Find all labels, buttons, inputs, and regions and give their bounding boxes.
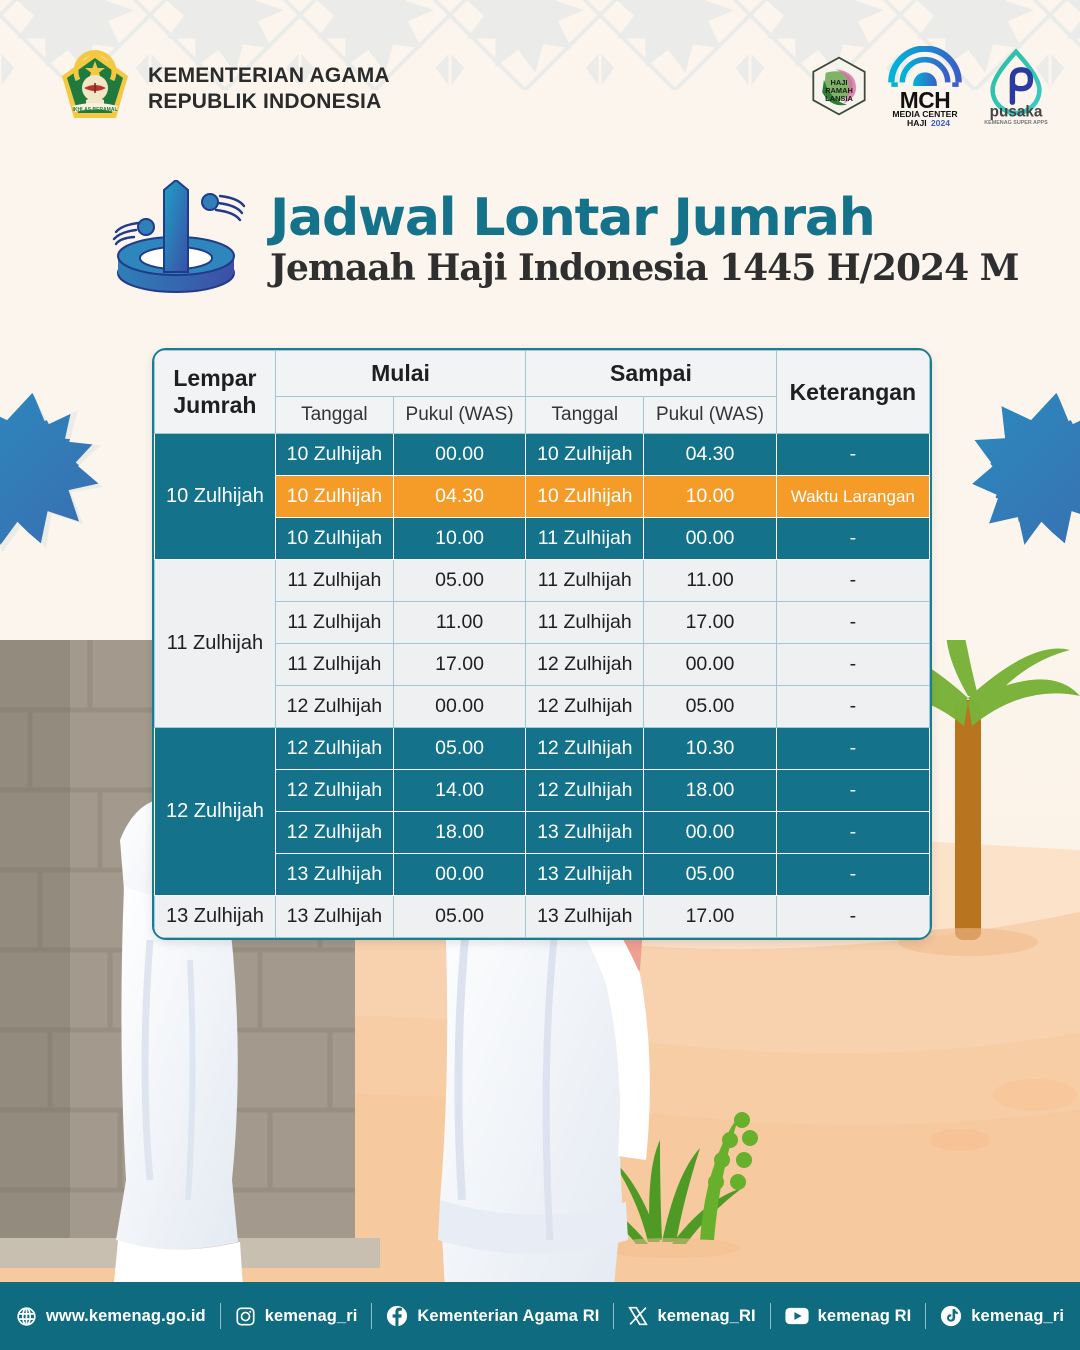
- footer-label-youtube: kemenag RI: [818, 1307, 912, 1326]
- cell-sampai-pukul: 11.00: [644, 560, 776, 602]
- table-body: 10 Zulhijah10 Zulhijah00.0010 Zulhijah04…: [155, 434, 930, 938]
- cell-keterangan: -: [776, 644, 929, 686]
- header-lempar-line1: Lempar: [173, 365, 256, 391]
- cell-keterangan: -: [776, 518, 929, 560]
- cell-sampai-pukul: 10.30: [644, 728, 776, 770]
- table-row: 11 Zulhijah11 Zulhijah05.0011 Zulhijah11…: [155, 560, 930, 602]
- footer-item-tiktok[interactable]: kemenag_ri: [926, 1305, 1078, 1327]
- footer-label-website: www.kemenag.go.id: [46, 1307, 206, 1326]
- facebook-icon: [386, 1305, 408, 1327]
- cell-sampai-tanggal: 11 Zulhijah: [526, 560, 644, 602]
- footer-item-youtube[interactable]: kemenag RI: [771, 1307, 926, 1326]
- cell-keterangan: -: [776, 560, 929, 602]
- cell-keterangan: -: [776, 770, 929, 812]
- rosette-left-decoration: [0, 378, 128, 573]
- table-row: 12 Zulhijah12 Zulhijah05.0012 Zulhijah10…: [155, 728, 930, 770]
- kemenag-logo: IKHLAS BERAMAL: [60, 50, 130, 128]
- cell-mulai-tanggal: 12 Zulhijah: [275, 728, 393, 770]
- header-mulai-pukul: Pukul (WAS): [393, 397, 525, 434]
- cell-mulai-pukul: 11.00: [393, 602, 525, 644]
- cell-mulai-pukul: 00.00: [393, 434, 525, 476]
- footer-item-x[interactable]: kemenag_RI: [614, 1306, 769, 1326]
- haji-ramah-lansia-logo: HAJI RAMAH LANSIA: [808, 55, 870, 117]
- header-sampai-pukul: Pukul (WAS): [644, 397, 776, 434]
- youtube-icon: [785, 1307, 809, 1325]
- jumrah-pillar-icon: [104, 180, 254, 298]
- footer-label-facebook: Kementerian Agama RI: [417, 1307, 599, 1326]
- cell-mulai-tanggal: 11 Zulhijah: [275, 560, 393, 602]
- ministry-name: KEMENTERIAN AGAMA REPUBLIK INDONESIA: [148, 63, 390, 116]
- cell-keterangan: -: [776, 728, 929, 770]
- header-mulai: Mulai: [275, 351, 525, 397]
- group-label-cell: 12 Zulhijah: [155, 728, 276, 896]
- page-title: Jadwal Lontar Jumrah: [270, 192, 1019, 245]
- cell-sampai-pukul: 05.00: [644, 686, 776, 728]
- page-subtitle: Jemaah Haji Indonesia 1445 H/2024 M: [270, 249, 1019, 289]
- cell-keterangan: Waktu Larangan: [776, 476, 929, 518]
- cell-sampai-tanggal: 10 Zulhijah: [526, 476, 644, 518]
- cell-sampai-pukul: 18.00: [644, 770, 776, 812]
- group-label-cell: 13 Zulhijah: [155, 896, 276, 938]
- svg-text:HAJI: HAJI: [907, 118, 927, 126]
- svg-text:2024: 2024: [931, 118, 950, 126]
- cell-sampai-tanggal: 12 Zulhijah: [526, 686, 644, 728]
- cell-mulai-tanggal: 10 Zulhijah: [275, 476, 393, 518]
- cell-mulai-pukul: 00.00: [393, 686, 525, 728]
- cell-keterangan: -: [776, 686, 929, 728]
- cell-mulai-tanggal: 13 Zulhijah: [275, 854, 393, 896]
- cell-mulai-pukul: 05.00: [393, 728, 525, 770]
- header-lempar-line2: Jumrah: [173, 392, 256, 418]
- pusaka-logo: pusaka KEMENAG SUPER APPS: [980, 46, 1052, 126]
- ministry-line-2: REPUBLIK INDONESIA: [148, 89, 390, 115]
- cell-keterangan: -: [776, 434, 929, 476]
- cell-mulai-pukul: 05.00: [393, 896, 525, 938]
- cell-sampai-pukul: 00.00: [644, 812, 776, 854]
- table-row: 13 Zulhijah13 Zulhijah05.0013 Zulhijah17…: [155, 896, 930, 938]
- cell-sampai-tanggal: 12 Zulhijah: [526, 770, 644, 812]
- cell-mulai-pukul: 04.30: [393, 476, 525, 518]
- table-header: Lempar Jumrah Mulai Sampai Keterangan Ta…: [155, 351, 930, 434]
- cell-keterangan: -: [776, 602, 929, 644]
- ministry-line-1: KEMENTERIAN AGAMA: [148, 63, 390, 89]
- cell-sampai-pukul: 17.00: [644, 602, 776, 644]
- cell-mulai-pukul: 17.00: [393, 644, 525, 686]
- cell-sampai-tanggal: 13 Zulhijah: [526, 812, 644, 854]
- page-header: IKHLAS BERAMAL KEMENTERIAN AGAMA REPUBLI…: [0, 0, 1080, 150]
- table-row: 10 Zulhijah10 Zulhijah00.0010 Zulhijah04…: [155, 434, 930, 476]
- cell-mulai-tanggal: 12 Zulhijah: [275, 770, 393, 812]
- kemenag-lockup: IKHLAS BERAMAL KEMENTERIAN AGAMA REPUBLI…: [60, 50, 390, 128]
- header-sampai: Sampai: [526, 351, 776, 397]
- cell-mulai-tanggal: 11 Zulhijah: [275, 602, 393, 644]
- group-label-cell: 10 Zulhijah: [155, 434, 276, 560]
- tiktok-icon: [940, 1305, 962, 1327]
- cell-sampai-pukul: 04.30: [644, 434, 776, 476]
- jumrah-schedule-table: Lempar Jumrah Mulai Sampai Keterangan Ta…: [152, 348, 932, 940]
- footer-label-tiktok: kemenag_ri: [971, 1307, 1064, 1326]
- svg-text:IKHLAS BERAMAL: IKHLAS BERAMAL: [73, 107, 118, 113]
- cell-sampai-tanggal: 11 Zulhijah: [526, 518, 644, 560]
- cell-sampai-pukul: 17.00: [644, 896, 776, 938]
- cell-mulai-tanggal: 11 Zulhijah: [275, 644, 393, 686]
- cell-mulai-tanggal: 12 Zulhijah: [275, 686, 393, 728]
- globe-icon: [16, 1306, 37, 1327]
- title-block: Jadwal Lontar Jumrah Jemaah Haji Indones…: [104, 180, 1019, 298]
- svg-text:pusaka: pusaka: [990, 104, 1043, 121]
- header-keterangan: Keterangan: [776, 351, 929, 434]
- footer-item-instagram[interactable]: kemenag_ri: [221, 1306, 372, 1327]
- cell-sampai-tanggal: 13 Zulhijah: [526, 854, 644, 896]
- footer-item-website[interactable]: www.kemenag.go.id: [2, 1306, 220, 1327]
- svg-text:KEMENAG SUPER APPS: KEMENAG SUPER APPS: [984, 120, 1048, 126]
- cell-mulai-tanggal: 10 Zulhijah: [275, 434, 393, 476]
- svg-text:LANSIA: LANSIA: [825, 94, 853, 103]
- cell-sampai-tanggal: 12 Zulhijah: [526, 728, 644, 770]
- cell-mulai-pukul: 00.00: [393, 854, 525, 896]
- cell-mulai-tanggal: 10 Zulhijah: [275, 518, 393, 560]
- group-label-cell: 11 Zulhijah: [155, 560, 276, 728]
- cell-mulai-tanggal: 12 Zulhijah: [275, 812, 393, 854]
- cell-mulai-pukul: 18.00: [393, 812, 525, 854]
- cell-sampai-tanggal: 10 Zulhijah: [526, 434, 644, 476]
- cell-mulai-tanggal: 13 Zulhijah: [275, 896, 393, 938]
- partner-logos: HAJI RAMAH LANSIA MCH MEDIA CENTER HAJI …: [808, 46, 1052, 126]
- cell-sampai-tanggal: 12 Zulhijah: [526, 644, 644, 686]
- cell-mulai-pukul: 05.00: [393, 560, 525, 602]
- cell-sampai-pukul: 00.00: [644, 644, 776, 686]
- cell-mulai-pukul: 14.00: [393, 770, 525, 812]
- footer-item-facebook[interactable]: Kementerian Agama RI: [372, 1305, 613, 1327]
- cell-sampai-tanggal: 11 Zulhijah: [526, 602, 644, 644]
- rosette-right-decoration: [962, 378, 1080, 573]
- header-mulai-tanggal: Tanggal: [275, 397, 393, 434]
- cell-keterangan: -: [776, 854, 929, 896]
- cell-sampai-tanggal: 13 Zulhijah: [526, 896, 644, 938]
- cell-sampai-pukul: 10.00: [644, 476, 776, 518]
- cell-mulai-pukul: 10.00: [393, 518, 525, 560]
- header-sampai-tanggal: Tanggal: [526, 397, 644, 434]
- x-twitter-icon: [628, 1306, 648, 1326]
- social-footer: www.kemenag.go.id kemenag_ri Kementerian…: [0, 1282, 1080, 1350]
- header-lempar-jumrah: Lempar Jumrah: [155, 351, 276, 434]
- footer-label-x: kemenag_RI: [657, 1307, 755, 1326]
- footer-label-instagram: kemenag_ri: [265, 1307, 358, 1326]
- cell-keterangan: -: [776, 812, 929, 854]
- instagram-icon: [235, 1306, 256, 1327]
- mch-logo: MCH MEDIA CENTER HAJI 2024: [884, 46, 966, 126]
- cell-sampai-pukul: 00.00: [644, 518, 776, 560]
- cell-sampai-pukul: 05.00: [644, 854, 776, 896]
- cell-keterangan: -: [776, 896, 929, 938]
